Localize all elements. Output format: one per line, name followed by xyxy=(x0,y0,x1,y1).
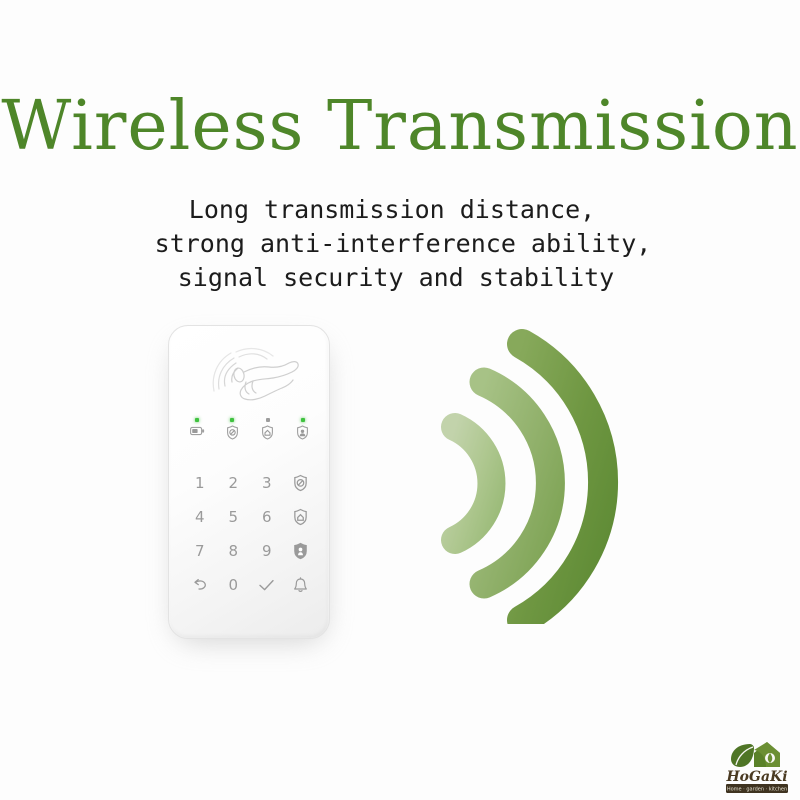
home-arm-shield-icon xyxy=(293,508,308,526)
status-indicator-row xyxy=(185,418,315,440)
disarm-led xyxy=(230,418,234,422)
away-arm-led xyxy=(301,418,305,422)
key-4[interactable]: 4 xyxy=(185,502,215,532)
key-away-arm[interactable] xyxy=(285,536,315,566)
signal-arc-inner xyxy=(455,427,491,540)
key-home-arm[interactable] xyxy=(285,502,315,532)
battery-led xyxy=(195,418,199,422)
status-disarm xyxy=(220,418,244,440)
bell-icon xyxy=(293,577,308,594)
status-home-arm xyxy=(256,418,280,440)
hogaki-logo: HoGaKi Home · garden · kitchen xyxy=(720,738,794,796)
key-disarm[interactable] xyxy=(285,468,315,498)
wireless-keypad-device: 1 2 3 4 5 6 7 8 9 xyxy=(168,325,332,643)
key-6[interactable]: 6 xyxy=(252,502,282,532)
rfid-hand-touch-icon xyxy=(189,336,313,416)
logo-leaf-house-mark xyxy=(731,742,780,767)
back-arrow-icon xyxy=(192,578,208,592)
key-3[interactable]: 3 xyxy=(252,468,282,498)
key-9[interactable]: 9 xyxy=(252,536,282,566)
key-sos-bell[interactable] xyxy=(285,570,315,600)
status-away-arm xyxy=(291,418,315,440)
key-8[interactable]: 8 xyxy=(218,536,248,566)
check-icon xyxy=(258,578,275,592)
key-back[interactable] xyxy=(185,570,215,600)
key-1[interactable]: 1 xyxy=(185,468,215,498)
keypad-grid[interactable]: 1 2 3 4 5 6 7 8 9 xyxy=(183,466,317,602)
logo-tagline: Home · garden · kitchen xyxy=(727,787,787,793)
wireless-signal-waves xyxy=(432,322,652,624)
device-body: 1 2 3 4 5 6 7 8 9 xyxy=(168,325,330,639)
away-arm-shield-icon xyxy=(293,542,308,560)
disarm-shield-icon xyxy=(226,425,239,440)
page-subtitle: Long transmission distance, strong anti-… xyxy=(0,193,800,295)
status-battery xyxy=(185,418,209,440)
disarm-shield-icon xyxy=(293,474,308,492)
battery-icon xyxy=(190,425,205,437)
page-title: Wireless Transmission xyxy=(0,88,800,166)
logo-wordmark: HoGaKi xyxy=(725,769,787,785)
subtitle-line-2: strong anti-interference ability, xyxy=(6,227,800,261)
subtitle-line-3: signal security and stability xyxy=(0,261,800,295)
away-arm-shield-icon xyxy=(296,425,309,440)
key-2[interactable]: 2 xyxy=(218,468,248,498)
key-0[interactable]: 0 xyxy=(218,570,248,600)
key-confirm[interactable] xyxy=(252,570,282,600)
key-5[interactable]: 5 xyxy=(218,502,248,532)
key-7[interactable]: 7 xyxy=(185,536,215,566)
home-arm-shield-icon xyxy=(261,425,274,440)
home-arm-led xyxy=(266,418,270,422)
subtitle-line-1: Long transmission distance, xyxy=(0,193,800,227)
